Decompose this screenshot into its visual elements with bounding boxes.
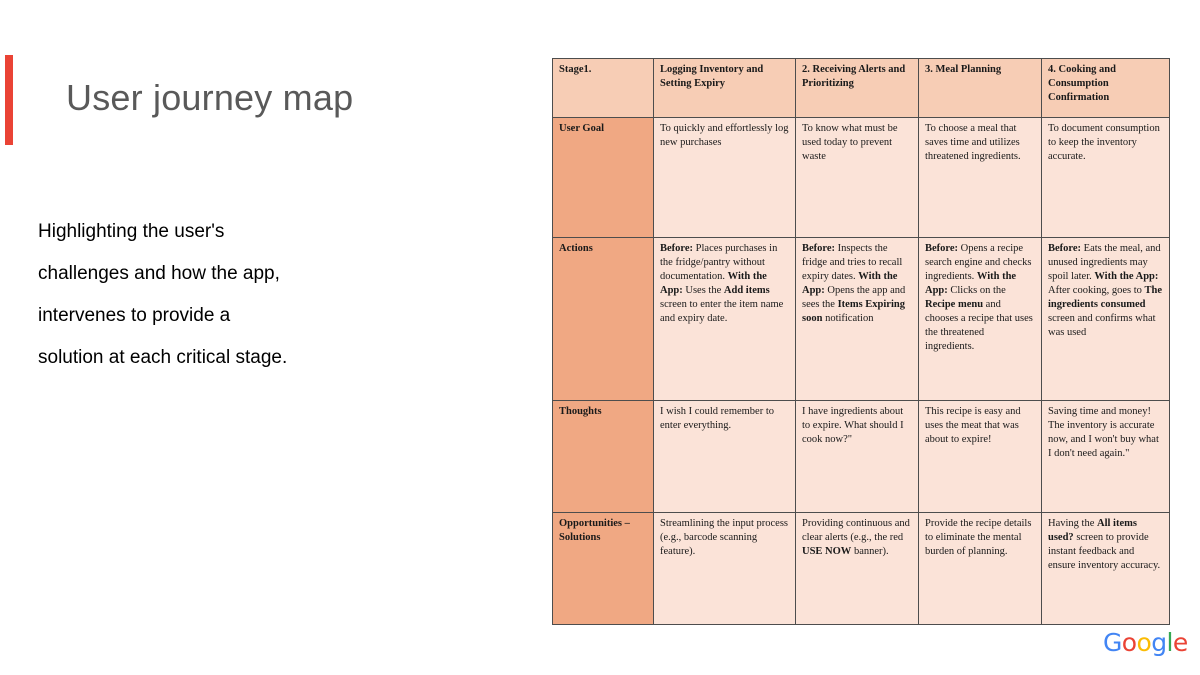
accent-bar	[5, 55, 13, 145]
google-logo-letter: e	[1173, 628, 1188, 657]
cell-text: After cooking, goes to	[1048, 285, 1145, 296]
cell-text-emphasis: Stage1.	[559, 64, 591, 75]
table-cell-r2-c2: Before: Inspects the fridge and tries to…	[796, 238, 919, 401]
cell-text-emphasis: Recipe menu	[925, 299, 983, 310]
cell-text: To quickly and effortlessly log new purc…	[660, 123, 789, 148]
table-cell-r3-c1: I wish I could remember to enter everyth…	[654, 401, 796, 513]
table-row: Opportunities – SolutionsStreamlining th…	[553, 513, 1170, 625]
cell-text-emphasis: USE NOW	[802, 546, 851, 557]
cell-text-emphasis: Before:	[1048, 243, 1081, 254]
table-cell-r3-c2: I have ingredients about to expire. What…	[796, 401, 919, 513]
google-logo: Google	[1103, 630, 1188, 655]
cell-text-emphasis: Actions	[559, 243, 593, 254]
slide-description-line: intervenes to provide a	[38, 295, 458, 337]
table-cell-r4-c3: Provide the recipe details to eliminate …	[919, 513, 1042, 625]
cell-text: screen to enter the item name and expiry…	[660, 299, 783, 324]
stage-header-4: 4. Cooking and Consumption Confirmation	[1042, 59, 1170, 118]
table-cell-r4-c1: Streamlining the input process (e.g., ba…	[654, 513, 796, 625]
row-label-cell: User Goal	[553, 118, 654, 238]
cell-text-emphasis: Before:	[660, 243, 693, 254]
cell-text: Providing continuous and clear alerts (e…	[802, 518, 910, 543]
cell-text-emphasis: 4. Cooking and Consumption Confirmation	[1048, 64, 1116, 103]
row-label-cell: Opportunities – Solutions	[553, 513, 654, 625]
cell-text-emphasis: Opportunities – Solutions	[559, 518, 630, 543]
table-cell-r1-c4: To document consumption to keep the inve…	[1042, 118, 1170, 238]
row-label-cell: Actions	[553, 238, 654, 401]
cell-text: Streamlining the input process (e.g., ba…	[660, 518, 788, 557]
row-label-cell: Thoughts	[553, 401, 654, 513]
cell-text: To choose a meal that saves time and uti…	[925, 123, 1021, 162]
journey-table-body: Stage1.Logging Inventory and Setting Exp…	[553, 59, 1170, 625]
google-logo-letter: o	[1122, 628, 1137, 657]
cell-text: This recipe is easy and uses the meat th…	[925, 406, 1021, 445]
table-cell-r4-c2: Providing continuous and clear alerts (e…	[796, 513, 919, 625]
table-row: ActionsBefore: Places purchases in the f…	[553, 238, 1170, 401]
slide-description-line: Highlighting the user's	[38, 211, 458, 253]
table-cell-r2-c3: Before: Opens a recipe search engine and…	[919, 238, 1042, 401]
cell-text-emphasis: User Goal	[559, 123, 604, 134]
stage-header-3: 3. Meal Planning	[919, 59, 1042, 118]
cell-text: Clicks on the	[948, 285, 1006, 296]
cell-text: banner).	[851, 546, 888, 557]
table-cell-r4-c4: Having the All items used? screen to pro…	[1042, 513, 1170, 625]
table-cell-r2-c4: Before: Eats the meal, and unused ingred…	[1042, 238, 1170, 401]
stage-header-2: 2. Receiving Alerts and Prioritizing	[796, 59, 919, 118]
stage-label-header: Stage1.	[553, 59, 654, 118]
cell-text-emphasis: Before:	[802, 243, 835, 254]
google-logo-letter: G	[1103, 628, 1122, 657]
table-header-row: Stage1.Logging Inventory and Setting Exp…	[553, 59, 1170, 118]
cell-text: screen and confirms what was used	[1048, 313, 1156, 338]
cell-text-emphasis: Before:	[925, 243, 958, 254]
table-cell-r1-c3: To choose a meal that saves time and uti…	[919, 118, 1042, 238]
cell-text-emphasis: Add items	[724, 285, 770, 296]
cell-text: Saving time and money! The inventory is …	[1048, 406, 1159, 459]
cell-text-emphasis: 2. Receiving Alerts and Prioritizing	[802, 64, 905, 89]
user-journey-map-table: Stage1.Logging Inventory and Setting Exp…	[552, 58, 1170, 625]
table-cell-r3-c4: Saving time and money! The inventory is …	[1042, 401, 1170, 513]
cell-text: Having the	[1048, 518, 1097, 529]
slide-description: Highlighting the user'schallenges and ho…	[38, 211, 458, 379]
cell-text: notification	[822, 313, 873, 324]
page-title: User journey map	[66, 78, 353, 118]
table-cell-r2-c1: Before: Places purchases in the fridge/p…	[654, 238, 796, 401]
table-cell-r1-c1: To quickly and effortlessly log new purc…	[654, 118, 796, 238]
cell-text: Uses the	[683, 285, 724, 296]
cell-text-emphasis: Thoughts	[559, 406, 602, 417]
table-row: ThoughtsI wish I could remember to enter…	[553, 401, 1170, 513]
table-cell-r1-c2: To know what must be used today to preve…	[796, 118, 919, 238]
cell-text-emphasis: Logging Inventory and Setting Expiry	[660, 64, 763, 89]
table-row: User GoalTo quickly and effortlessly log…	[553, 118, 1170, 238]
google-logo-letter: o	[1136, 628, 1151, 657]
cell-text: To document consumption to keep the inve…	[1048, 123, 1160, 162]
slide-description-line: challenges and how the app,	[38, 253, 458, 295]
cell-text-emphasis: 3. Meal Planning	[925, 64, 1001, 75]
cell-text: I wish I could remember to enter everyth…	[660, 406, 774, 431]
stage-header-1: Logging Inventory and Setting Expiry	[654, 59, 796, 118]
table-cell-r3-c3: This recipe is easy and uses the meat th…	[919, 401, 1042, 513]
cell-text: To know what must be used today to preve…	[802, 123, 898, 162]
slide-description-line: solution at each critical stage.	[38, 337, 458, 379]
google-logo-letter: g	[1151, 628, 1166, 657]
cell-text-emphasis: With the App:	[1094, 271, 1158, 282]
cell-text: Provide the recipe details to eliminate …	[925, 518, 1031, 557]
cell-text: I have ingredients about to expire. What…	[802, 406, 904, 445]
